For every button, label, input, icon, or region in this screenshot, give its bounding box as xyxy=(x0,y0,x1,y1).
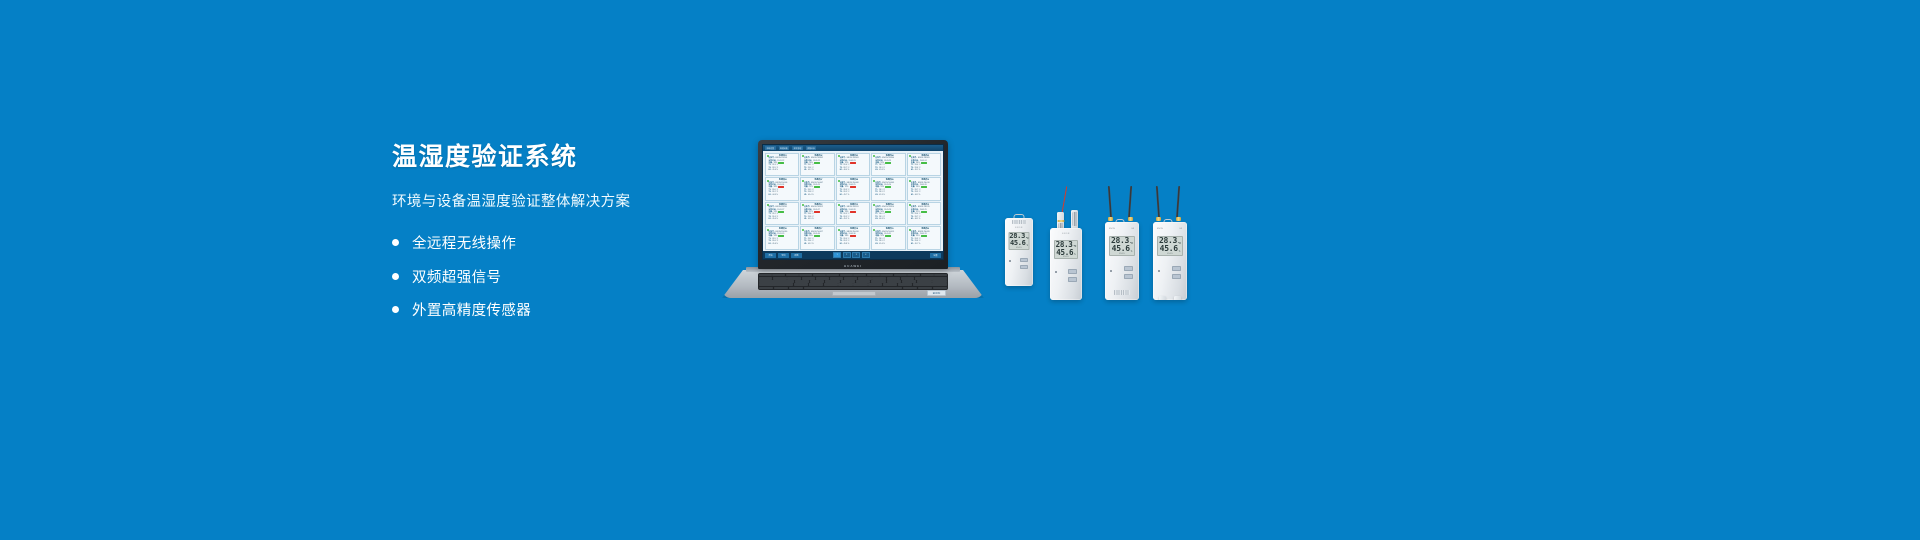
page-subtitle: 环境与设备温湿度验证整体解决方案 xyxy=(392,190,722,211)
device-model-label: H8 xyxy=(1179,228,1182,230)
key[interactable] xyxy=(824,283,838,285)
key[interactable] xyxy=(838,283,852,285)
sensor-card-row: H1:45.3 % xyxy=(875,194,904,196)
status-badge xyxy=(885,186,891,188)
laptop-product-image: 系统设置 数据采集 报表管理 报警记录 监测点01设备号:ENON-TH-001… xyxy=(722,140,984,298)
status-led-icon xyxy=(838,155,840,157)
status-badge xyxy=(921,186,927,188)
sensor-devices-group: ENON 28.3 ℃ 45.6 % ENON xyxy=(1005,180,1225,315)
status-led-icon xyxy=(838,204,840,206)
status-led-icon xyxy=(909,204,911,206)
device-body: ENON H8 28.3 ℃ 45.6 % ENON xyxy=(1105,222,1139,300)
key[interactable] xyxy=(887,280,902,282)
sensor-field-value: 45.8 % xyxy=(844,243,850,245)
status-badge xyxy=(921,235,927,237)
key[interactable] xyxy=(903,287,917,289)
sensor-field-value: 46.1 % xyxy=(915,218,921,220)
sensor-field-value: 45.4 % xyxy=(808,194,814,196)
sensor-field-value: 45.8 % xyxy=(879,169,885,171)
humidity-reading: 45.6 % xyxy=(1010,240,1028,247)
page-button[interactable]: 2 xyxy=(843,252,851,258)
key[interactable] xyxy=(880,274,893,276)
probe-housing xyxy=(1159,296,1166,300)
page-button[interactable]: 4 xyxy=(862,252,870,258)
settings-button[interactable]: 设置 xyxy=(930,253,941,258)
list-item: 全远程无线操作 xyxy=(392,232,722,253)
sensor-card-row: H1:45.6 % xyxy=(769,243,798,245)
probe-tip-icon-secondary xyxy=(1072,212,1077,226)
product-banner: 温湿度验证系统 环境与设备温湿度验证整体解决方案 全远程无线操作 双频超强信号 … xyxy=(0,0,1920,540)
sensor-card-row: H1:45.7 % xyxy=(840,194,869,196)
sensor-card[interactable]: 监测点12设备号:ENON-TH-012采集时间:13:05:27电量:87%T… xyxy=(800,202,835,226)
device-wireless-logger-right: ENON H8 28.3 ℃ 45.6 % ENON xyxy=(1153,186,1187,300)
sensor-field-value: 45.4 % xyxy=(879,243,885,245)
sensor-field-label: H1: xyxy=(804,169,807,171)
sensor-field-label: H1: xyxy=(875,169,878,171)
status-badge xyxy=(885,162,891,164)
sensor-card-row: H1:45.8 % xyxy=(840,243,869,245)
sensor-field-value: 46.0 % xyxy=(844,169,850,171)
key[interactable] xyxy=(894,274,907,276)
key[interactable] xyxy=(789,287,803,289)
laptop-sticker: ENON xyxy=(927,290,946,296)
device-button-down[interactable] xyxy=(1124,274,1133,279)
device-handheld-logger-probe: ENON 28.3 ℃ 45.6 % ENON xyxy=(1050,190,1082,300)
status-badge xyxy=(921,162,927,164)
device-brand-label: ENON xyxy=(1109,228,1115,230)
status-led-icon xyxy=(1009,260,1011,262)
sensor-field-value: 46.2 % xyxy=(915,194,921,196)
humidity-reading: 45.6 % xyxy=(1160,245,1181,253)
sensor-card[interactable]: 监测点07设备号:ENON-TH-007采集时间:13:05:25电量:97%T… xyxy=(800,177,835,201)
sensor-field-label: H1: xyxy=(804,194,807,196)
keyboard-row xyxy=(759,277,947,279)
key[interactable] xyxy=(871,280,886,282)
sensor-field-value: 45.5 % xyxy=(844,218,850,220)
sensor-field-label: H1: xyxy=(875,218,878,220)
feature-label: 全远程无线操作 xyxy=(412,232,516,253)
lcd-footer-label: ENON xyxy=(1167,254,1172,255)
sensor-card[interactable]: 监测点17设备号:ENON-TH-017采集时间:13:05:30电量:89%T… xyxy=(800,226,835,250)
key[interactable] xyxy=(934,274,947,276)
vent-grille-icon xyxy=(1012,220,1026,224)
key[interactable] xyxy=(759,287,773,289)
sensor-field-label: H1: xyxy=(840,218,843,220)
key[interactable] xyxy=(867,274,880,276)
sensor-field-value: 45.7 % xyxy=(844,194,850,196)
sensor-card-row: H1:44.9 % xyxy=(769,194,798,196)
sensor-field-label: H1: xyxy=(769,218,772,220)
laptop-keyboard[interactable] xyxy=(758,273,948,290)
key[interactable] xyxy=(921,274,934,276)
status-led-icon xyxy=(767,180,769,182)
device-lcd-display: 28.3 ℃ 45.6 % ENON xyxy=(1054,240,1078,259)
status-led-icon xyxy=(1110,270,1112,272)
device-button-up[interactable] xyxy=(1124,266,1133,271)
key[interactable] xyxy=(795,280,810,282)
status-badge xyxy=(850,162,856,164)
device-wireless-logger-left: ENON H8 28.3 ℃ 45.6 % ENON xyxy=(1105,186,1139,300)
sensor-card[interactable]: 监测点16设备号:ENON-TH-016采集时间:13:05:29电量:94%T… xyxy=(765,226,800,250)
sensor-field-value: 44.9 % xyxy=(772,194,778,196)
device-body: ENON 28.3 ℃ 45.6 % ENON xyxy=(1050,228,1082,300)
status-badge xyxy=(778,235,784,237)
status-badge xyxy=(778,162,784,164)
key[interactable] xyxy=(794,283,808,285)
device-button-up[interactable] xyxy=(1172,266,1181,271)
status-badge xyxy=(885,235,891,237)
key[interactable] xyxy=(856,280,871,282)
device-button-down[interactable] xyxy=(1172,274,1181,279)
device-brand-label: ENON xyxy=(1005,227,1033,229)
status-badge xyxy=(814,162,820,164)
key[interactable] xyxy=(913,283,947,285)
laptop-lid: 系统设置 数据采集 报表管理 报警记录 监测点01设备号:ENON-TH-001… xyxy=(758,140,948,269)
antenna-base-left xyxy=(1156,217,1161,221)
antenna-right xyxy=(1176,186,1181,220)
app-toolbar: 开始 导出 刷新 1 2 3 4 设置 xyxy=(763,251,943,259)
laptop-brand-label: HUAWEI xyxy=(758,264,948,268)
laptop-screen: 系统设置 数据采集 报表管理 报警记录 监测点01设备号:ENON-TH-001… xyxy=(762,144,944,260)
sensor-card[interactable]: 监测点14设备号:ENON-TH-014采集时间:13:05:28电量:96%T… xyxy=(871,202,906,226)
sensor-field-value: 44.8 % xyxy=(879,218,885,220)
humidity-value: 45.6 xyxy=(1160,245,1178,253)
device-body: ENON H8 28.3 ℃ 45.6 % ENON xyxy=(1153,222,1187,300)
key[interactable] xyxy=(759,280,794,282)
sensor-card[interactable]: 监测点20设备号:ENON-TH-020采集时间:13:05:31电量:95%T… xyxy=(907,226,942,250)
sensor-card[interactable]: 监测点01设备号:ENON-TH-001采集时间:13:05:22电量:98%T… xyxy=(765,153,800,177)
key[interactable] xyxy=(887,277,900,279)
status-badge xyxy=(850,235,856,237)
status-led-icon xyxy=(767,204,769,206)
probe-ring xyxy=(1057,220,1064,222)
list-item: 双频超强信号 xyxy=(392,266,722,287)
sensor-card-row: H1:45.7 % xyxy=(911,243,940,245)
sensor-field-value: 45.9 % xyxy=(808,218,814,220)
device-button-down[interactable] xyxy=(1068,277,1077,282)
humidity-value: 45.6 xyxy=(1056,249,1073,257)
status-badge xyxy=(778,186,784,188)
page-button[interactable]: 3 xyxy=(852,252,860,258)
sensor-field-label: H1: xyxy=(769,243,772,245)
monitoring-grid-wrapper: 监测点01设备号:ENON-TH-001采集时间:13:05:22电量:98%T… xyxy=(763,151,943,251)
key[interactable] xyxy=(902,280,917,282)
status-led-icon xyxy=(802,229,804,231)
key[interactable] xyxy=(853,274,866,276)
key[interactable] xyxy=(772,274,785,276)
sensor-field-value: 45.2 % xyxy=(808,243,814,245)
key[interactable] xyxy=(932,280,947,282)
device-button-up[interactable] xyxy=(1020,258,1028,262)
key[interactable] xyxy=(901,277,914,279)
key[interactable] xyxy=(853,283,867,285)
menu-item[interactable]: 系统设置 xyxy=(765,146,776,150)
page-title: 温湿度验证系统 xyxy=(392,142,722,172)
status-led-icon xyxy=(1158,270,1160,272)
humidity-unit: % xyxy=(1027,245,1028,247)
sensor-field-label: H1: xyxy=(911,218,914,220)
key[interactable] xyxy=(773,277,786,279)
bullet-dot-icon xyxy=(392,306,399,313)
sensor-card[interactable]: 监测点04设备号:ENON-TH-004采集时间:13:05:23电量:99%T… xyxy=(871,153,906,177)
sensor-field-label: H1: xyxy=(840,169,843,171)
feature-label: 外置高精度传感器 xyxy=(412,299,531,320)
sensor-field-value: 45.6 % xyxy=(772,169,778,171)
key[interactable] xyxy=(786,274,799,276)
menu-item[interactable]: 报表管理 xyxy=(792,146,803,150)
sensor-card[interactable]: 监测点06设备号:ENON-TH-006采集时间:13:05:24电量:88%T… xyxy=(765,177,800,201)
feature-label: 双频超强信号 xyxy=(412,266,501,287)
status-led-icon xyxy=(838,229,840,231)
key[interactable] xyxy=(907,274,920,276)
sensor-field-value: 45.1 % xyxy=(915,169,921,171)
device-body: ENON 28.3 ℃ 45.6 % ENON xyxy=(1005,218,1033,286)
status-led-icon xyxy=(767,155,769,157)
status-badge xyxy=(850,211,856,213)
key[interactable] xyxy=(810,280,825,282)
key[interactable] xyxy=(813,274,826,276)
sensor-card-row: H1:45.9 % xyxy=(804,218,833,220)
key[interactable] xyxy=(759,283,793,285)
bullet-dot-icon xyxy=(392,273,399,280)
toolbar-button[interactable]: 刷新 xyxy=(791,253,802,258)
lcd-footer-label: ENON xyxy=(1063,257,1068,258)
sensor-field-label: H1: xyxy=(804,218,807,220)
lcd-footer-label: ENON xyxy=(1016,248,1021,249)
sensor-card[interactable]: 监测点08设备号:ENON-TH-008采集时间:13:05:25电量:92%T… xyxy=(836,177,871,201)
sensor-field-value: 45.0 % xyxy=(772,218,778,220)
laptop-touchpad[interactable] xyxy=(832,291,876,296)
status-led-icon xyxy=(802,180,804,182)
key[interactable] xyxy=(799,274,812,276)
key[interactable] xyxy=(830,277,843,279)
antenna-left xyxy=(1156,186,1161,220)
sensor-card-row: H1:45.4 % xyxy=(804,194,833,196)
humidity-unit: % xyxy=(1074,254,1076,257)
pagination: 1 2 3 4 xyxy=(833,252,870,258)
sensor-card[interactable]: 监测点02设备号:ENON-TH-002采集时间:13:05:22电量:96%T… xyxy=(800,153,835,177)
list-item: 外置高精度传感器 xyxy=(392,299,722,320)
sensor-card-row: H1:45.2 % xyxy=(804,243,833,245)
sensor-field-label: H1: xyxy=(804,243,807,245)
status-led-icon xyxy=(838,180,840,182)
sensor-card-row: H1:45.1 % xyxy=(911,169,940,171)
sensor-card-row: H1:45.4 % xyxy=(875,243,904,245)
lcd-footer-label: ENON xyxy=(1119,254,1124,255)
sensor-card-row: H1:45.8 % xyxy=(875,169,904,171)
sensor-card-row: H1:45.2 % xyxy=(804,169,833,171)
feature-list: 全远程无线操作 双频超强信号 外置高精度传感器 xyxy=(392,232,722,320)
status-badge xyxy=(921,211,927,213)
sensor-field-label: H1: xyxy=(875,243,878,245)
sensor-card[interactable]: 监测点03设备号:ENON-TH-003采集时间:13:05:23电量:91%T… xyxy=(836,153,871,177)
keyboard-row xyxy=(759,274,947,276)
toolbar-button[interactable]: 导出 xyxy=(778,253,789,258)
status-badge xyxy=(885,211,891,213)
antenna-right xyxy=(1128,186,1133,220)
keyboard-row xyxy=(759,287,947,289)
sensor-field-label: H1: xyxy=(769,169,772,171)
sensor-card-row: H1:46.0 % xyxy=(840,169,869,171)
key[interactable] xyxy=(933,287,947,289)
key[interactable] xyxy=(898,283,912,285)
key[interactable] xyxy=(917,280,932,282)
keyboard-row xyxy=(759,280,947,282)
key[interactable] xyxy=(787,277,800,279)
key[interactable] xyxy=(825,280,840,282)
key[interactable] xyxy=(844,277,857,279)
key[interactable] xyxy=(840,274,853,276)
sensor-card[interactable]: 监测点15设备号:ENON-TH-015采集时间:13:05:29电量:91%T… xyxy=(907,202,942,226)
sensor-field-value: 45.7 % xyxy=(915,243,921,245)
spacebar-key[interactable] xyxy=(804,287,903,289)
sensor-card-row: H1:45.5 % xyxy=(840,218,869,220)
device-lcd-display: 28.3 ℃ 45.6 % ENON xyxy=(1109,236,1135,256)
banner-text-block: 温湿度验证系统 环境与设备温湿度验证整体解决方案 全远程无线操作 双频超强信号 … xyxy=(392,142,722,333)
humidity-unit: % xyxy=(1131,251,1133,254)
status-led-icon xyxy=(909,180,911,182)
sensor-card[interactable]: 监测点05设备号:ENON-TH-005采集时间:13:05:24电量:94%T… xyxy=(907,153,942,177)
antenna-base-right xyxy=(1128,217,1133,221)
antenna-base-left xyxy=(1108,217,1113,221)
sensor-field-value: 45.2 % xyxy=(808,169,814,171)
device-lcd-display: 28.3 ℃ 45.6 % ENON xyxy=(1157,236,1183,256)
humidity-reading: 45.6 % xyxy=(1056,249,1075,257)
device-lcd-display: 28.3 ℃ 45.6 % ENON xyxy=(1009,232,1030,250)
device-button-up[interactable] xyxy=(1068,269,1077,274)
key[interactable] xyxy=(774,287,788,289)
status-led-icon xyxy=(1055,271,1057,273)
status-led-icon xyxy=(909,229,911,231)
sensor-card[interactable]: 监测点18设备号:ENON-TH-018采集时间:13:05:30电量:98%T… xyxy=(836,226,871,250)
sensor-field-label: H1: xyxy=(911,169,914,171)
sensor-field-label: H1: xyxy=(840,194,843,196)
key[interactable] xyxy=(759,277,772,279)
vent-grille-icon xyxy=(1114,290,1130,295)
key[interactable] xyxy=(759,274,772,276)
key[interactable] xyxy=(826,274,839,276)
sensor-field-label: H1: xyxy=(911,243,914,245)
sensor-field-label: H1: xyxy=(875,194,878,196)
sensor-card[interactable]: 监测点09设备号:ENON-TH-009采集时间:13:05:26电量:95%T… xyxy=(871,177,906,201)
toolbar-button[interactable]: 开始 xyxy=(765,253,776,258)
status-led-icon xyxy=(767,229,769,231)
sensor-card[interactable]: 监测点19设备号:ENON-TH-019采集时间:13:05:31电量:92%T… xyxy=(871,226,906,250)
humidity-value: 45.6 xyxy=(1112,245,1130,253)
status-badge xyxy=(778,211,784,213)
sensor-card-row: H1:44.8 % xyxy=(875,218,904,220)
sensor-card-row: H1:45.6 % xyxy=(769,169,798,171)
key[interactable] xyxy=(816,277,829,279)
probe-housing-secondary xyxy=(1174,296,1181,300)
bullet-dot-icon xyxy=(392,239,399,246)
key[interactable] xyxy=(915,277,947,279)
device-button-down[interactable] xyxy=(1020,265,1028,269)
key[interactable] xyxy=(868,283,882,285)
sensor-field-label: H1: xyxy=(840,243,843,245)
humidity-reading: 45.6 % xyxy=(1112,245,1133,253)
status-badge xyxy=(850,186,856,188)
sensor-card-row: H1:46.2 % xyxy=(911,194,940,196)
sensor-card[interactable]: 监测点13设备号:ENON-TH-013采集时间:13:05:28电量:99%T… xyxy=(836,202,871,226)
page-button[interactable]: 1 xyxy=(833,252,841,258)
device-handheld-logger-small: ENON 28.3 ℃ 45.6 % ENON xyxy=(1005,214,1033,286)
key[interactable] xyxy=(883,283,897,285)
sensor-field-value: 45.6 % xyxy=(772,243,778,245)
key[interactable] xyxy=(872,277,885,279)
key[interactable] xyxy=(841,280,856,282)
sensor-field-label: H1: xyxy=(769,194,772,196)
menu-item[interactable]: 报警记录 xyxy=(806,146,817,150)
sensor-card-row: H1:45.0 % xyxy=(769,218,798,220)
device-model-label: H8 xyxy=(1131,228,1134,230)
status-badge xyxy=(814,186,820,188)
key[interactable] xyxy=(809,283,823,285)
menu-item[interactable]: 数据采集 xyxy=(779,146,790,150)
key[interactable] xyxy=(858,277,871,279)
device-brand-label: ENON xyxy=(1050,233,1082,235)
antenna-left xyxy=(1108,186,1113,220)
humidity-unit: % xyxy=(1179,251,1181,254)
antenna-base-right xyxy=(1176,217,1181,221)
humidity-value: 45.6 xyxy=(1010,240,1026,247)
sensor-card-row: H1:46.1 % xyxy=(911,218,940,220)
key[interactable] xyxy=(802,277,815,279)
status-led-icon xyxy=(909,155,911,157)
status-badge xyxy=(814,211,820,213)
sensor-card[interactable]: 监测点11设备号:ENON-TH-011采集时间:13:05:27电量:93%T… xyxy=(765,202,800,226)
sensor-card[interactable]: 监测点10设备号:ENON-TH-010采集时间:13:05:26电量:90%T… xyxy=(907,177,942,201)
status-badge xyxy=(814,235,820,237)
device-brand-label: ENON xyxy=(1157,228,1163,230)
sensor-card-grid: 监测点01设备号:ENON-TH-001采集时间:13:05:22电量:98%T… xyxy=(765,153,942,250)
key[interactable] xyxy=(918,287,932,289)
keyboard-row xyxy=(759,283,947,285)
sensor-field-label: H1: xyxy=(911,194,914,196)
sensor-field-value: 45.3 % xyxy=(879,194,885,196)
